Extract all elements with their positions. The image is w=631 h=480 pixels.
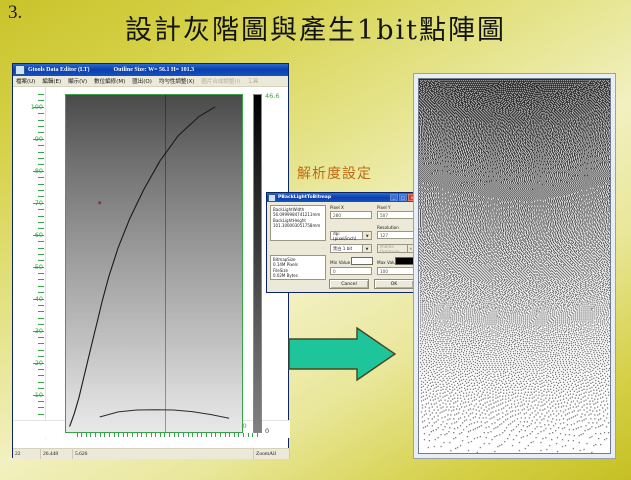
gtools-data-editor-window[interactable]: Gtools Data Editor (LT) Outline Size: W=… bbox=[12, 63, 289, 458]
ruler-minor-tick bbox=[38, 196, 44, 197]
pixel-y-input[interactable]: 507 bbox=[377, 211, 415, 219]
status-cell-y: 5.626 bbox=[73, 449, 254, 459]
ruler-minor-tick bbox=[38, 241, 44, 242]
ruler-minor-tick bbox=[38, 292, 44, 293]
ruler-minor-tick bbox=[178, 433, 179, 437]
ruler-label: 40 bbox=[35, 295, 43, 303]
ruler-minor-tick bbox=[38, 279, 44, 280]
ruler-minor-tick bbox=[38, 388, 44, 389]
ruler-minor-tick bbox=[38, 184, 44, 185]
menu-item-view[interactable]: 顯示(V) bbox=[68, 77, 87, 85]
ruler-minor-tick bbox=[38, 177, 44, 178]
ruler-minor-tick bbox=[225, 433, 226, 437]
ruler-minor-tick bbox=[229, 433, 230, 437]
ruler-minor-tick bbox=[38, 94, 44, 95]
grayscale-gradient-plot[interactable] bbox=[65, 94, 243, 433]
green-right-arrow-icon bbox=[285, 325, 399, 383]
ruler-label: 10 bbox=[35, 391, 43, 399]
ruler-minor-tick bbox=[90, 433, 91, 437]
pixel-y-label: Pixel Y bbox=[377, 205, 391, 210]
ruler-minor-tick bbox=[252, 433, 253, 437]
min-value-label: Min Value bbox=[330, 260, 350, 265]
ruler-minor-tick bbox=[38, 311, 44, 312]
gradient-min-label: 0 bbox=[265, 427, 269, 435]
backlight-height-value: 101.300003051758mm bbox=[273, 223, 323, 228]
max-value-input[interactable]: 100 bbox=[377, 267, 415, 275]
menu-bar[interactable]: 檔案(U) 編輯(E) 顯示(V) 數位編修(M) 匯出(O) 均勻性調整(X)… bbox=[13, 76, 288, 87]
ruler-minor-tick bbox=[38, 350, 44, 351]
status-cell-count: 22 bbox=[13, 449, 41, 459]
gradient-max-label: 46.6 bbox=[265, 92, 279, 100]
ruler-minor-tick bbox=[38, 164, 44, 165]
ruler-minor-tick bbox=[243, 433, 244, 437]
ruler-minor-tick bbox=[141, 433, 142, 437]
ruler-minor-tick bbox=[211, 433, 212, 437]
ruler-label: 70 bbox=[35, 199, 43, 207]
ruler-minor-tick bbox=[38, 126, 44, 127]
resolution-input[interactable]: 127 bbox=[377, 231, 415, 239]
ruler-minor-tick bbox=[137, 433, 138, 437]
maximize-icon[interactable]: □ bbox=[399, 194, 407, 201]
ruler-minor-tick bbox=[38, 375, 44, 376]
backlight-to-bitmap-dialog[interactable]: PBackLightToBitmap _ □ × BackLightWidth … bbox=[266, 192, 418, 293]
ruler-minor-tick bbox=[197, 433, 198, 437]
ruler-minor-tick bbox=[38, 254, 44, 255]
bitmap-output-panel[interactable] bbox=[413, 73, 616, 459]
color-depth-select[interactable]: 黑白 1 bit ▼ bbox=[330, 244, 372, 253]
ruler-label: 50 bbox=[35, 263, 43, 271]
status-cell-zoom[interactable]: ZoomAll bbox=[254, 449, 290, 459]
ruler-label: 30 bbox=[35, 327, 43, 335]
ruler-label: 20 bbox=[35, 359, 43, 367]
ruler-minor-tick bbox=[38, 120, 44, 121]
resolution-label: Resolution bbox=[377, 225, 399, 230]
ruler-minor-tick bbox=[38, 324, 44, 325]
ruler-minor-tick bbox=[151, 433, 152, 437]
ruler-minor-tick bbox=[164, 433, 165, 437]
editor-canvas[interactable]: 0102030405060708090100 -100102030405060 … bbox=[13, 87, 288, 459]
menu-item-tools: 工具 bbox=[247, 77, 258, 85]
ruler-minor-tick bbox=[38, 113, 44, 114]
app-icon bbox=[15, 65, 25, 75]
window-title: Gtools Data Editor (LT) bbox=[28, 67, 90, 73]
ruler-minor-tick bbox=[188, 433, 189, 437]
ruler-minor-tick bbox=[38, 100, 44, 101]
min-color-swatch[interactable] bbox=[351, 257, 373, 265]
ruler-minor-tick bbox=[38, 222, 44, 223]
vertical-ruler[interactable]: 0102030405060708090100 bbox=[13, 87, 46, 439]
cancel-button[interactable]: Cancel bbox=[329, 279, 369, 289]
ruler-minor-tick bbox=[201, 433, 202, 437]
ruler-minor-tick bbox=[38, 248, 44, 249]
ruler-minor-tick bbox=[38, 260, 44, 261]
ruler-minor-tick bbox=[114, 433, 115, 437]
bitmap-size-info-box: BitmapSize 0.14M Pixels FileSize 0.02M B… bbox=[270, 255, 326, 280]
outline-size-readout: Outline Size: W= 56.1 H= 101.3 bbox=[114, 67, 195, 73]
ruler-minor-tick bbox=[109, 433, 110, 437]
ruler-label: 80 bbox=[35, 167, 43, 175]
ruler-minor-tick bbox=[38, 401, 44, 402]
ruler-minor-tick bbox=[127, 433, 128, 437]
dither-select-value: Middle Optimum bbox=[380, 244, 407, 254]
status-bar: 22 26.448 5.626 ZoomAll bbox=[13, 448, 290, 459]
minimize-icon[interactable]: _ bbox=[390, 194, 398, 201]
ruler-minor-tick bbox=[38, 158, 44, 159]
file-size-value: 0.02M Bytes bbox=[273, 273, 323, 278]
ruler-minor-tick bbox=[38, 407, 44, 408]
ruler-minor-tick bbox=[38, 228, 44, 229]
ruler-minor-tick bbox=[38, 145, 44, 146]
crosshair-line bbox=[165, 95, 166, 432]
ruler-minor-tick bbox=[206, 433, 207, 437]
menu-item-image-compose: 圖片合成調整(I) bbox=[201, 77, 240, 85]
ruler-minor-tick bbox=[38, 190, 44, 191]
ruler-minor-tick bbox=[38, 414, 44, 415]
status-cell-x: 26.448 bbox=[41, 449, 73, 459]
ruler-minor-tick bbox=[38, 343, 44, 344]
ok-button[interactable]: OK bbox=[374, 279, 414, 289]
min-value-input[interactable]: 0 bbox=[330, 267, 372, 275]
ruler-minor-tick bbox=[38, 337, 44, 338]
menu-item-digital-edit[interactable]: 數位編修(M) bbox=[94, 77, 125, 85]
menu-item-file[interactable]: 檔案(U) bbox=[16, 77, 35, 85]
ruler-minor-tick bbox=[38, 369, 44, 370]
dialog-title: PBackLightToBitmap bbox=[278, 195, 389, 200]
ruler-minor-tick bbox=[38, 273, 44, 274]
ruler-minor-tick bbox=[38, 286, 44, 287]
ruler-minor-tick bbox=[174, 433, 175, 437]
ruler-minor-tick bbox=[38, 209, 44, 210]
ruler-minor-tick bbox=[104, 433, 105, 437]
ruler-minor-tick bbox=[81, 433, 82, 437]
ruler-minor-tick bbox=[220, 433, 221, 437]
annotation-resolution-setting: 解析度設定 bbox=[297, 163, 372, 183]
chevron-down-icon[interactable]: ▼ bbox=[362, 245, 371, 252]
ruler-minor-tick bbox=[234, 433, 235, 437]
ruler-minor-tick bbox=[155, 433, 156, 437]
ruler-label: 90 bbox=[35, 135, 43, 143]
dialog-titlebar[interactable]: PBackLightToBitmap _ □ × bbox=[267, 193, 417, 202]
dialog-icon bbox=[268, 194, 276, 202]
menu-item-export[interactable]: 匯出(O) bbox=[132, 77, 152, 85]
page-title: 設計灰階圖與產生1bit點陣圖 bbox=[0, 8, 631, 47]
pixel-x-label: Pixel X bbox=[330, 205, 344, 210]
ruler-label: 100 bbox=[31, 103, 43, 111]
ruler-minor-tick bbox=[160, 433, 161, 437]
ruler-minor-tick bbox=[118, 433, 119, 437]
ruler-minor-tick bbox=[248, 433, 249, 437]
ruler-minor-tick bbox=[95, 433, 96, 437]
dithered-1bit-bitmap bbox=[418, 78, 611, 454]
window-titlebar[interactable]: Gtools Data Editor (LT) Outline Size: W=… bbox=[13, 64, 288, 76]
ruler-minor-tick bbox=[132, 433, 133, 437]
ruler-minor-tick bbox=[38, 216, 44, 217]
dither-select: Middle Optimum ▼ bbox=[377, 244, 415, 253]
ruler-minor-tick bbox=[257, 433, 258, 437]
ruler-minor-tick bbox=[38, 356, 44, 357]
dialog-body: BackLightWidth 56.0999984741211mm BackLi… bbox=[267, 202, 417, 293]
pixel-x-input[interactable]: 280 bbox=[330, 211, 372, 219]
ruler-minor-tick bbox=[38, 305, 44, 306]
ruler-minor-tick bbox=[38, 318, 44, 319]
unit-select[interactable]: dpi (pixel/inch) ▼ bbox=[330, 231, 372, 240]
chevron-down-icon[interactable]: ▼ bbox=[362, 232, 371, 239]
gradient-legend-bar bbox=[253, 94, 262, 433]
unit-select-value: dpi (pixel/inch) bbox=[333, 231, 362, 241]
ruler-label: 60 bbox=[35, 231, 43, 239]
ruler-minor-tick bbox=[183, 433, 184, 437]
color-depth-select-value: 黑白 1 bit bbox=[333, 246, 352, 252]
ruler-minor-tick bbox=[38, 382, 44, 383]
ruler-minor-tick bbox=[38, 132, 44, 133]
max-color-swatch[interactable] bbox=[395, 257, 415, 265]
backlight-info-box: BackLightWidth 56.0999984741211mm BackLi… bbox=[270, 205, 326, 241]
ruler-minor-tick bbox=[38, 152, 44, 153]
menu-item-uniformity[interactable]: 均勻性調整(X) bbox=[159, 77, 195, 85]
menu-item-edit[interactable]: 編輯(E) bbox=[42, 77, 61, 85]
ruler-minor-tick bbox=[86, 433, 87, 437]
backlight-width-value: 56.0999984741211mm bbox=[273, 212, 323, 217]
